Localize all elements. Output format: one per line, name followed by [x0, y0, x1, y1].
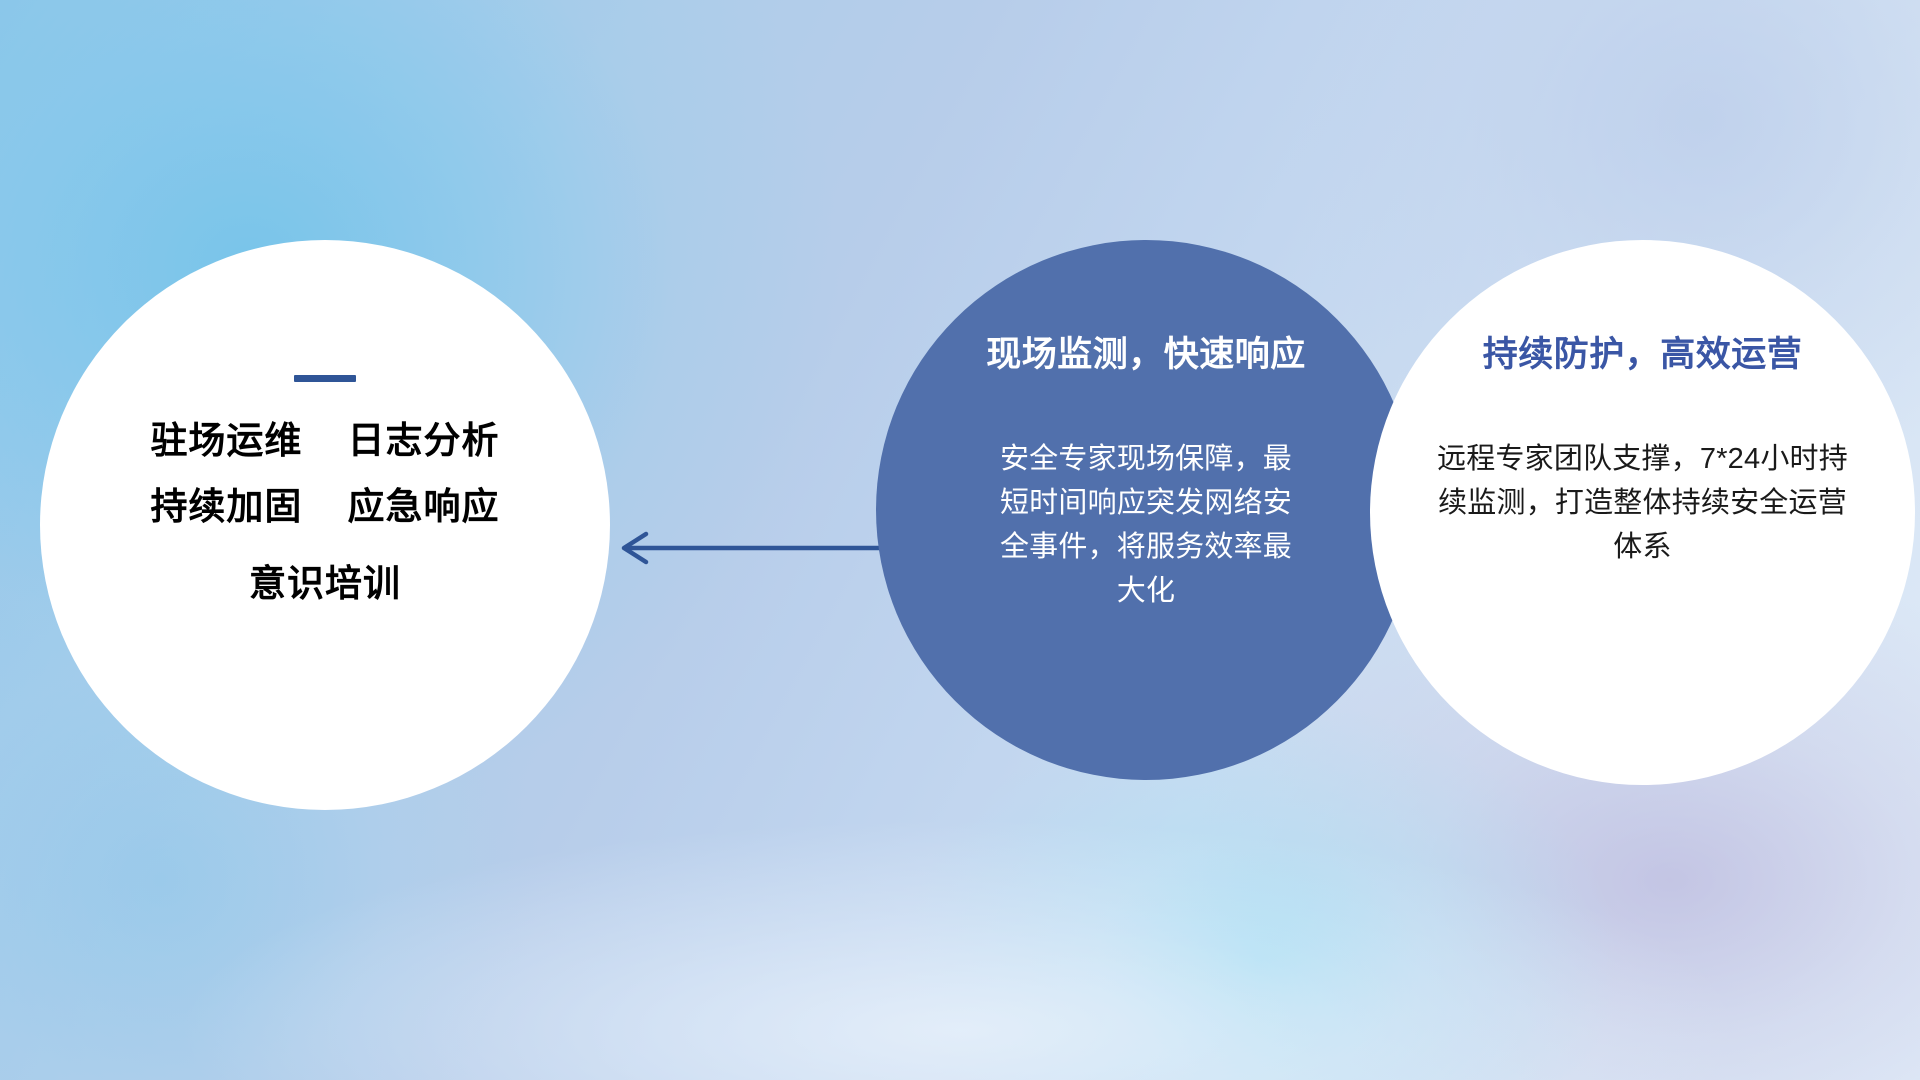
onsite-circle-body: 安全专家现场保障，最短时间响应突发网络安全事件，将服务效率最大化 [986, 437, 1306, 613]
continuous-operations-circle[interactable]: 持续防护，高效运营 远程专家团队支撑，7*24小时持续监测，打造整体持续安全运营… [1370, 240, 1915, 785]
capability-circle[interactable]: 驻场运维 日志分析 持续加固 应急响应 意识培训 [40, 240, 610, 810]
leftward-arrow-icon [600, 512, 900, 584]
background-glow-bottom [180, 820, 1740, 1080]
operations-circle-body: 远程专家团队支撑，7*24小时持续监测，打造整体持续安全运营体系 [1428, 437, 1858, 569]
onsite-monitoring-circle[interactable]: 现场监测，快速响应 安全专家现场保障，最短时间响应突发网络安全事件，将服务效率最… [876, 240, 1416, 780]
onsite-circle-title: 现场监测，快速响应 [986, 336, 1306, 375]
capability-row-3: 意识培训 [249, 565, 401, 602]
slide-canvas: 驻场运维 日志分析 持续加固 应急响应 意识培训 现场监测，快速响应 安全专家现… [0, 0, 1920, 1080]
capability-circle-content: 驻场运维 日志分析 持续加固 应急响应 意识培训 [40, 240, 610, 810]
operations-circle-content: 持续防护，高效运营 远程专家团队支撑，7*24小时持续监测，打造整体持续安全运营… [1370, 240, 1915, 785]
capability-row-2: 持续加固 应急响应 [150, 488, 499, 525]
operations-circle-title: 持续防护，高效运营 [1483, 336, 1803, 375]
onsite-circle-content: 现场监测，快速响应 安全专家现场保障，最短时间响应突发网络安全事件，将服务效率最… [876, 240, 1416, 780]
capability-row-1: 驻场运维 日志分析 [150, 422, 499, 459]
divider-dash [294, 375, 356, 382]
